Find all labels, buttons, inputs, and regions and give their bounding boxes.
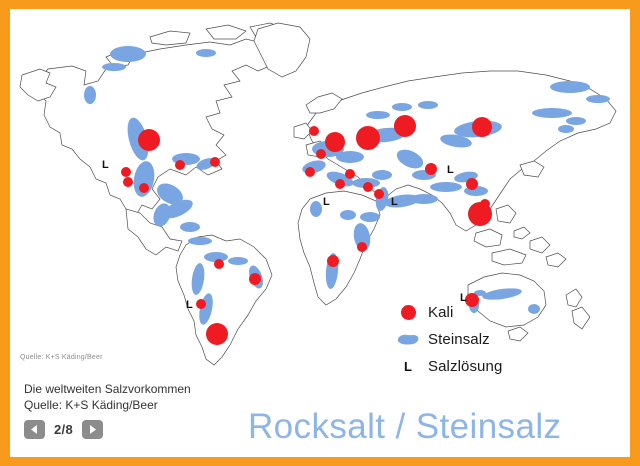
legend-label-salzloesung: Salzlösung [428,358,502,375]
letter-l-icon: L [388,359,428,374]
red-circle-icon [388,305,428,320]
slide-title: Rocksalt / Steinsalz [248,407,561,447]
svg-text:L: L [323,196,330,208]
caption-line-1: Die weltweiten Salzvorkommen [24,381,324,397]
next-image-button[interactable] [82,420,103,439]
legend-item-kali: Kali [388,299,588,326]
landmass-southeast-asia [474,227,566,267]
legend-label-steinsalz: Steinsalz [428,331,490,348]
legend-item-salzloesung: L Salzlösung [388,353,588,380]
chevron-left-icon [30,424,39,435]
blue-blob-icon [388,333,428,347]
legend-label-kali: Kali [428,304,453,321]
chevron-right-icon [88,424,97,435]
viewer-content: .land { fill:#ffffff; stroke:#4d4d4d; st… [10,9,630,457]
page-counter: 2/8 [54,422,73,437]
svg-text:L: L [447,164,454,176]
map-source-note: Quelle: K+S Käding/Beer [20,354,103,361]
legend-item-steinsalz: Steinsalz [388,326,588,353]
previous-image-button[interactable] [24,420,45,439]
map-legend: Kali Steinsalz L Salzlösung [388,299,588,380]
svg-text:L: L [102,159,109,171]
svg-text:L: L [391,196,398,208]
image-viewer-frame: .land { fill:#ffffff; stroke:#4d4d4d; st… [0,0,640,466]
svg-text:L: L [186,299,193,311]
